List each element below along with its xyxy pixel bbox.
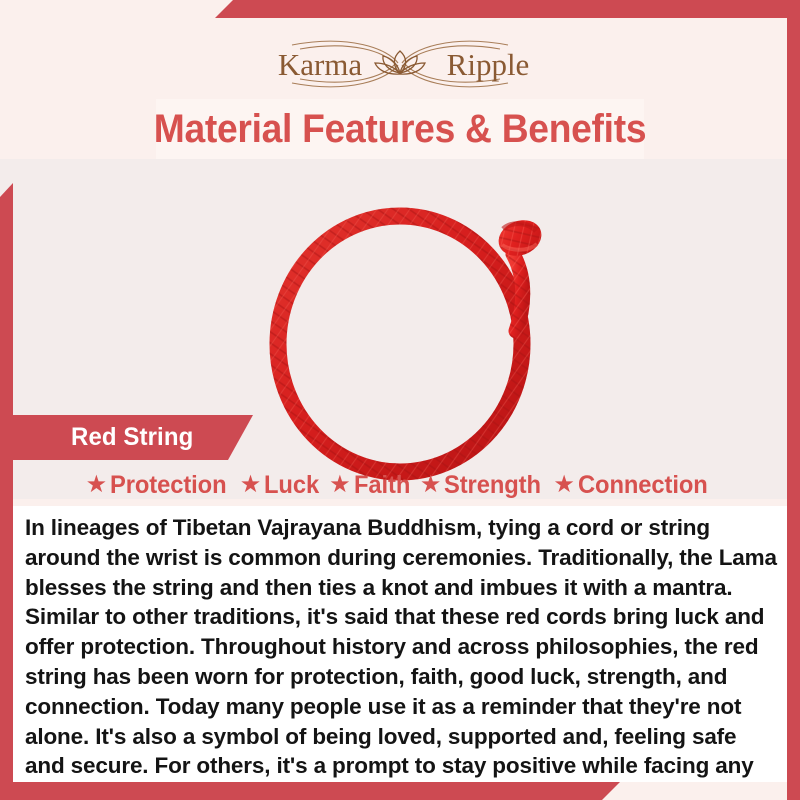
feature-item-protection: ★ Protection (86, 471, 233, 500)
star-icon: ★ (86, 473, 108, 497)
feature-list: ★ Protection ★ Luck ★ Faith ★ Strength ★… (0, 466, 800, 504)
feature-label: Strength (444, 471, 541, 500)
feature-item-luck: ★ Luck (240, 471, 322, 500)
brand-logo-container: Karma Ripple (0, 36, 800, 94)
star-icon: ★ (329, 473, 351, 497)
description-panel: In lineages of Tibetan Vajrayana Buddhis… (13, 506, 787, 782)
red-string-ribbon: Red String (0, 415, 253, 460)
decor-left-bar (0, 183, 13, 800)
feature-item-strength: ★ Strength (420, 471, 547, 500)
feature-label: Luck (264, 471, 319, 500)
decor-right-bar (787, 0, 800, 800)
star-icon: ★ (420, 473, 442, 497)
decor-top-bar (215, 0, 800, 18)
feature-label: Connection (578, 471, 708, 500)
description-text: In lineages of Tibetan Vajrayana Buddhis… (25, 513, 777, 800)
brand-word-right: Ripple (447, 47, 530, 82)
feature-item-connection: ★ Connection (553, 471, 714, 500)
star-icon: ★ (553, 473, 575, 497)
star-icon: ★ (240, 473, 262, 497)
title-band: Material Features & Benefits (0, 99, 800, 159)
brand-word-left: Karma (278, 47, 363, 82)
page-title: Material Features & Benefits (28, 99, 772, 159)
ribbon-label: Red String (0, 423, 193, 452)
feature-item-faith: ★ Faith (329, 471, 413, 500)
infographic-page: Karma Ripple Material Features & Benefit… (0, 0, 800, 800)
decor-bottom-bar (0, 782, 620, 800)
karma-ripple-logo: Karma Ripple (240, 37, 560, 93)
feature-label: Faith (354, 471, 410, 500)
feature-label: Protection (110, 471, 226, 500)
